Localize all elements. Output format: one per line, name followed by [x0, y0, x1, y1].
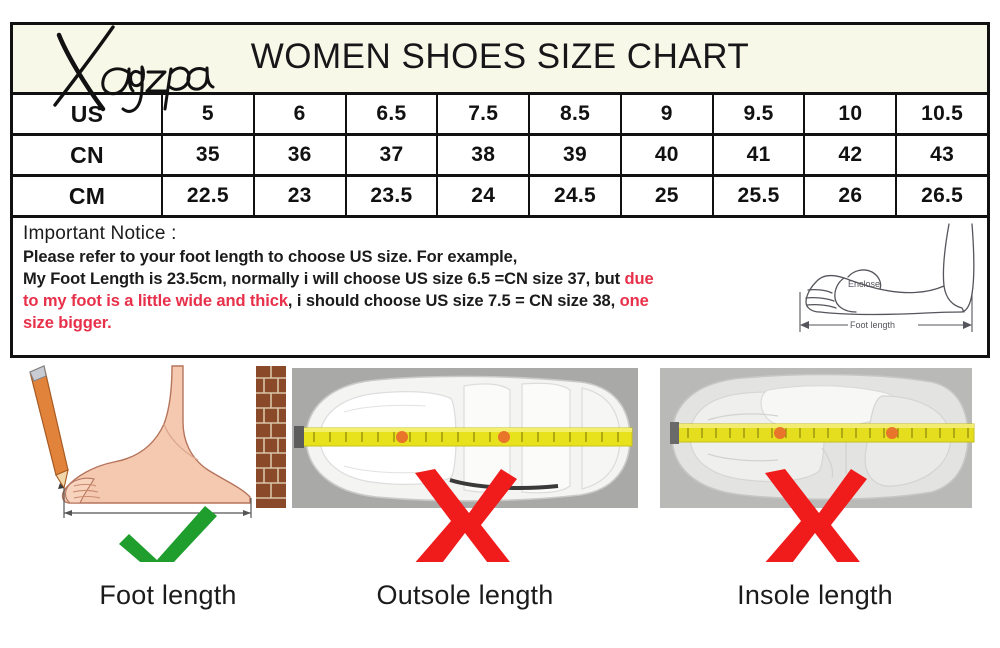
- panel-caption-outsole-length: Outsole length: [290, 580, 640, 611]
- cell-us-1: 6: [255, 95, 347, 133]
- tape-measure-icon: [294, 426, 632, 448]
- cell-us-7: 10: [805, 95, 897, 133]
- notice-line-2-black: My Foot Length is 23.5cm, normally i wil…: [23, 270, 625, 288]
- title-band: WOMEN SHOES SIZE CHART: [13, 25, 987, 95]
- notice-line-2-red: due: [625, 270, 654, 288]
- brick-wall-icon: [256, 366, 286, 508]
- foot-length-diagram-icon: Enclose Foot length: [786, 220, 981, 344]
- cell-cn-1: 36: [255, 136, 347, 174]
- page-title: WOMEN SHOES SIZE CHART: [13, 37, 987, 77]
- cell-us-2: 6.5: [347, 95, 439, 133]
- size-chart-page: WOMEN SHOES SIZE CHART US 5 6 6.5 7.5 8.…: [0, 0, 1000, 648]
- cell-cn-2: 37: [347, 136, 439, 174]
- foot-length-label: Foot length: [850, 320, 895, 330]
- cell-us-8: 10.5: [897, 95, 987, 133]
- important-notice-block: Important Notice : Please refer to your …: [13, 218, 987, 348]
- panel-outsole-image: [290, 362, 640, 562]
- size-chart-table-frame: WOMEN SHOES SIZE CHART US 5 6 6.5 7.5 8.…: [10, 22, 990, 358]
- cell-cn-8: 43: [897, 136, 987, 174]
- cell-cn-4: 39: [530, 136, 622, 174]
- notice-line-3-red-b: one: [620, 292, 649, 310]
- panel-caption-insole-length: Insole length: [650, 580, 980, 611]
- cell-us-5: 9: [622, 95, 714, 133]
- cell-cm-6: 25.5: [714, 177, 806, 215]
- row-label-cm: CM: [13, 177, 163, 215]
- row-label-cn: CN: [13, 136, 163, 174]
- cell-cn-6: 41: [714, 136, 806, 174]
- panel-caption-foot-length: Foot length: [8, 580, 328, 611]
- panel-foot-length-image: [8, 362, 328, 562]
- cell-cn-3: 38: [438, 136, 530, 174]
- table-row-us: US 5 6 6.5 7.5 8.5 9 9.5 10 10.5: [13, 95, 987, 136]
- enclose-label: Enclose: [848, 279, 880, 289]
- cell-cm-1: 23: [255, 177, 347, 215]
- cell-us-4: 8.5: [530, 95, 622, 133]
- cell-cm-0: 22.5: [163, 177, 255, 215]
- notice-line-3-black: , i should choose US size 7.5 = CN size …: [288, 292, 620, 310]
- panel-foot-length: Foot length: [8, 362, 328, 648]
- cross-mark-icon: [409, 467, 521, 562]
- cell-cn-7: 42: [805, 136, 897, 174]
- check-mark-icon: [113, 502, 223, 562]
- panel-insole-image: [650, 362, 980, 562]
- notice-line-3-red-a: to my foot is a little wide and thick: [23, 292, 288, 310]
- cell-cm-5: 25: [622, 177, 714, 215]
- table-row-cn: CN 35 36 37 38 39 40 41 42 43: [13, 136, 987, 177]
- row-label-us: US: [13, 95, 163, 133]
- cell-us-0: 5: [163, 95, 255, 133]
- cell-us-3: 7.5: [438, 95, 530, 133]
- table-row-cm: CM 22.5 23 23.5 24 24.5 25 25.5 26 26.5: [13, 177, 987, 218]
- tape-measure-icon: [670, 422, 974, 444]
- cross-mark-icon: [759, 467, 871, 562]
- cell-cm-8: 26.5: [897, 177, 987, 215]
- cell-cm-2: 23.5: [347, 177, 439, 215]
- panel-insole-length: Insole length: [650, 362, 980, 648]
- panel-outsole-length: Outsole length: [290, 362, 640, 648]
- cell-cm-3: 24: [438, 177, 530, 215]
- cell-cm-4: 24.5: [530, 177, 622, 215]
- cell-cm-7: 26: [805, 177, 897, 215]
- measurement-examples: Foot length: [0, 362, 1000, 648]
- cell-us-6: 9.5: [714, 95, 806, 133]
- cell-cn-0: 35: [163, 136, 255, 174]
- cell-cn-5: 40: [622, 136, 714, 174]
